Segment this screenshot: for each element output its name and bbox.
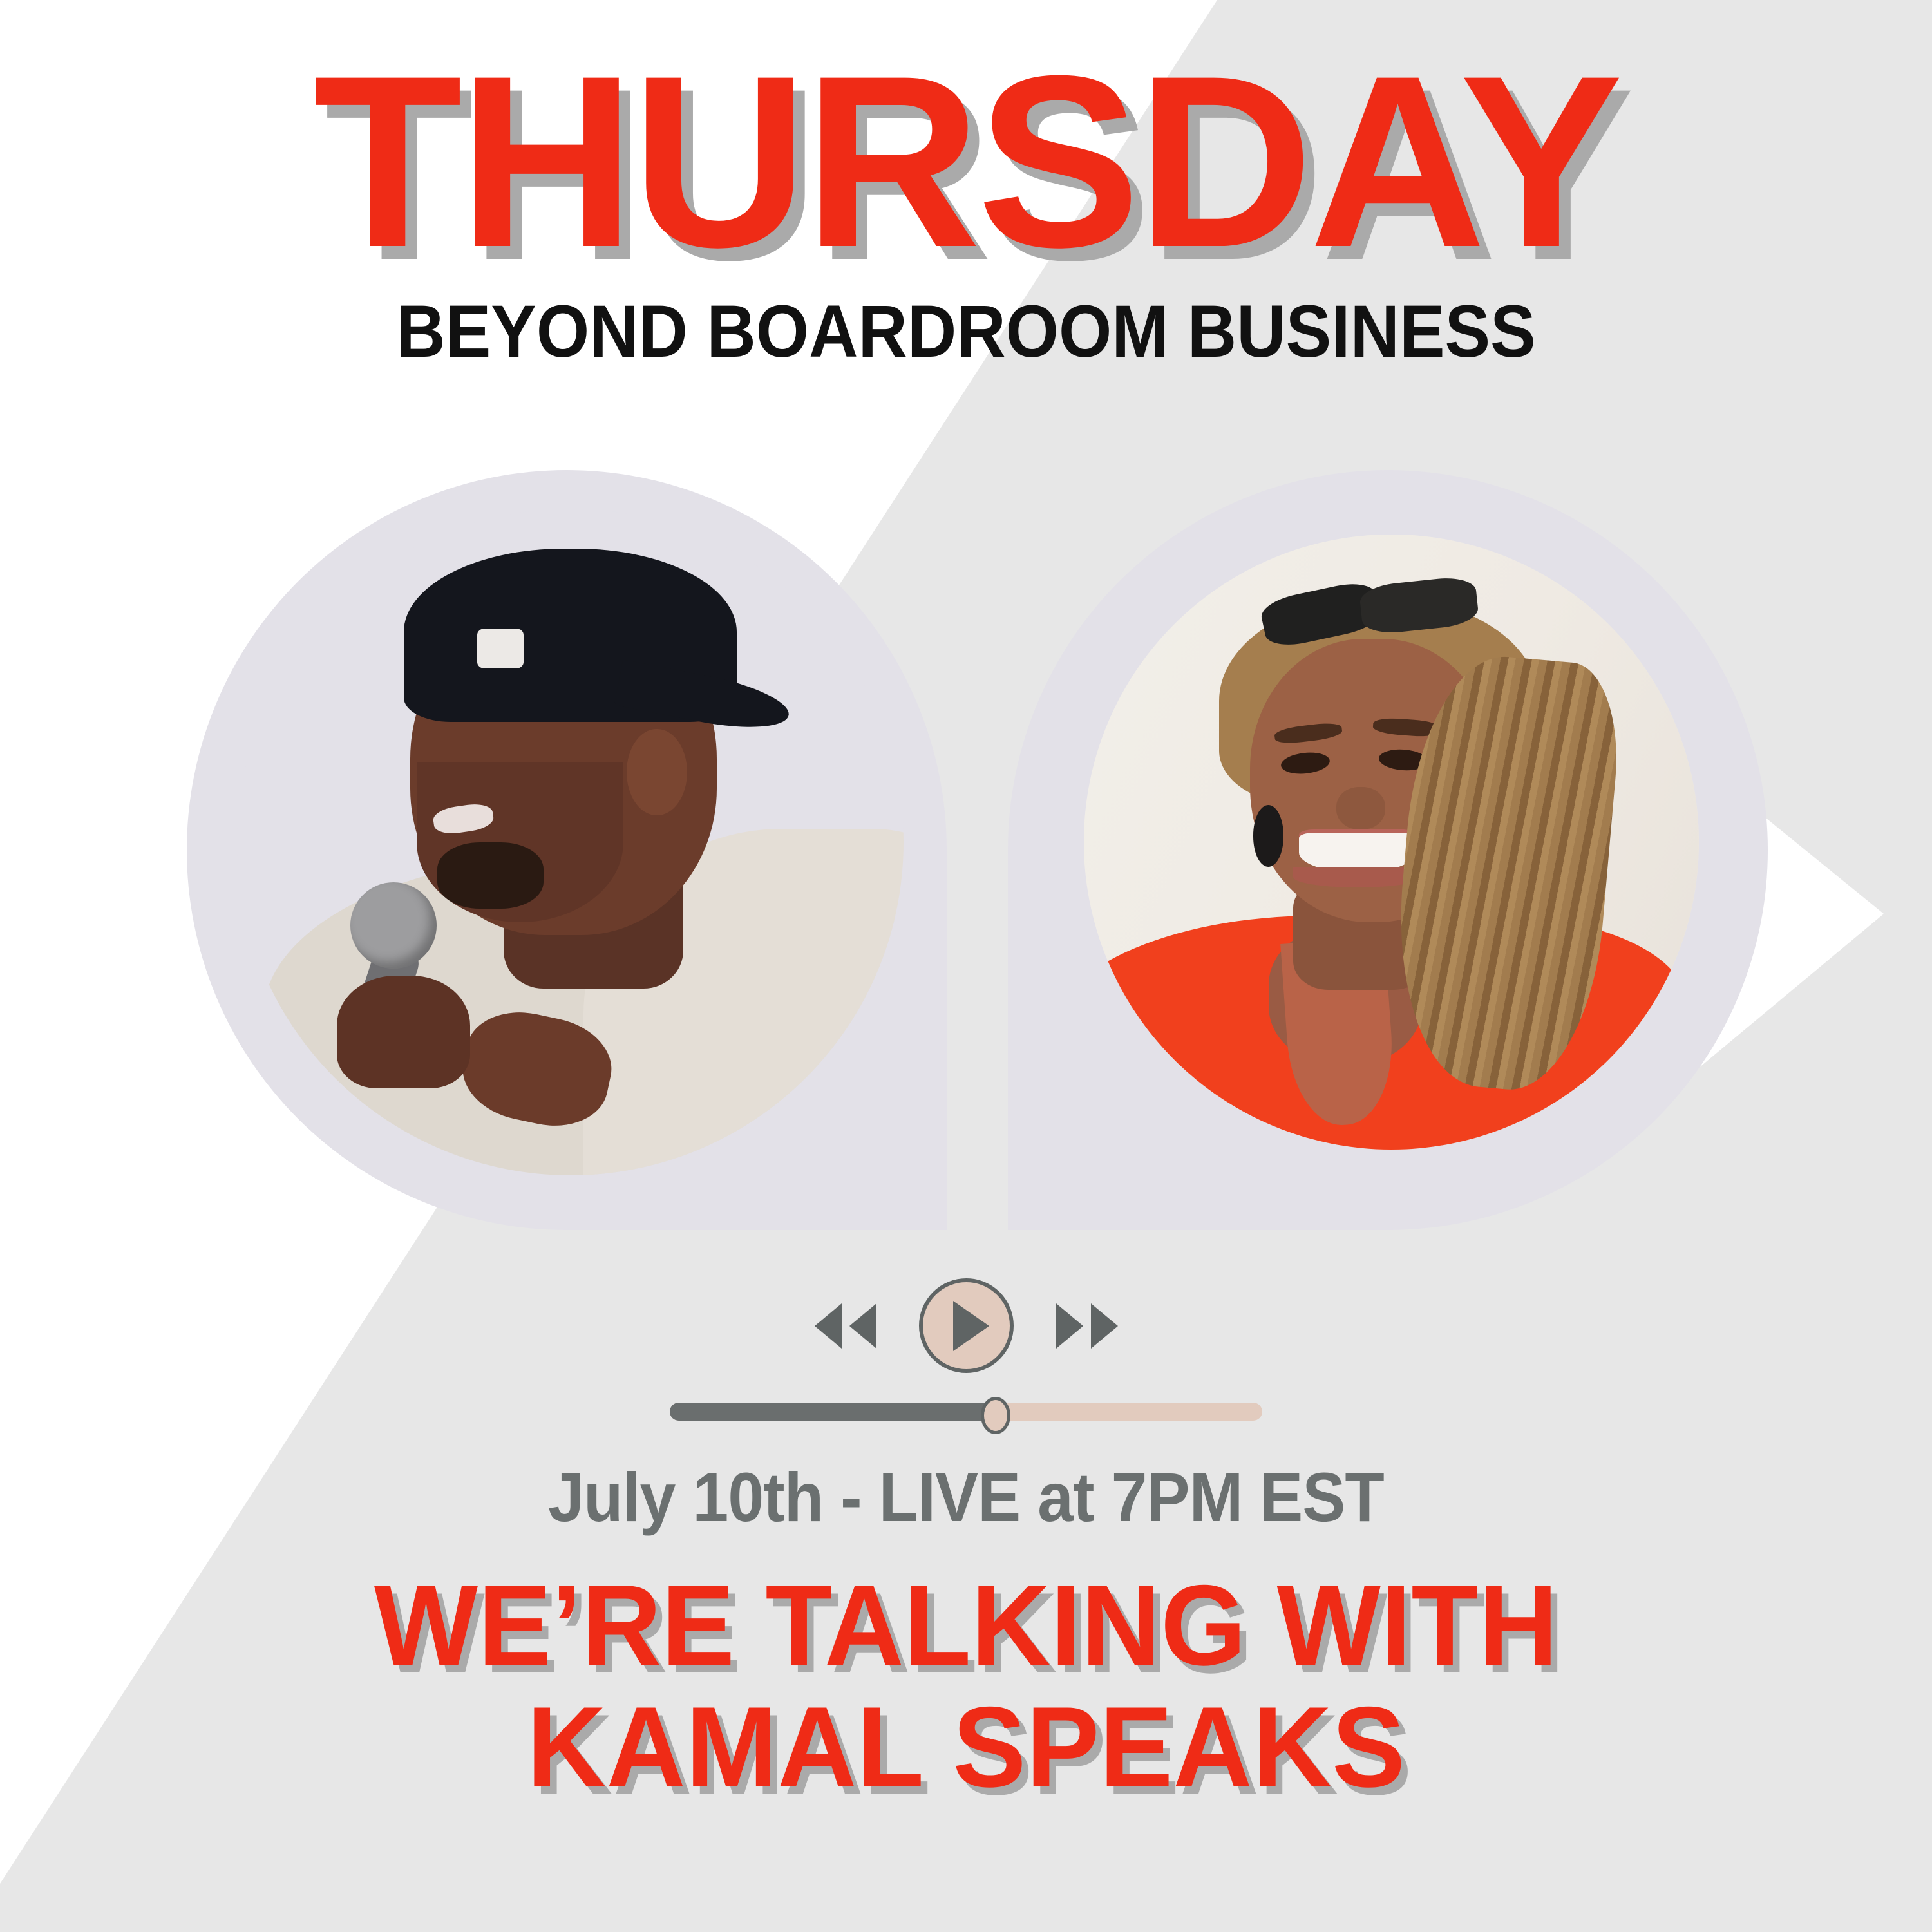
- footer-headline-line-1: WE’RE TALKING WITH: [39, 1565, 1893, 1687]
- speaker-photo-left: [237, 509, 904, 1175]
- media-controls: [0, 1278, 1932, 1373]
- promo-poster: THURSDAY BEYOND BOARDROOM BUSINESS: [0, 0, 1932, 1932]
- schedule-date-text: July 10th - LIVE at 7PM EST: [68, 1457, 1864, 1537]
- play-icon: [953, 1301, 989, 1351]
- portrait-illustration-left: [237, 509, 904, 1175]
- page-title: THURSDAY: [0, 45, 1932, 278]
- footer-headline-line-2: KAMAL SPEAKS: [39, 1687, 1893, 1808]
- portrait-illustration-right: [1084, 535, 1699, 1150]
- fast-forward-icon[interactable]: [1051, 1301, 1123, 1351]
- rewind-icon[interactable]: [810, 1301, 882, 1351]
- progress-bar[interactable]: [670, 1401, 1262, 1423]
- speech-bubble-avatar-right: [1008, 470, 1768, 1230]
- speaker-photo-right: [1084, 535, 1699, 1150]
- page-subtitle: BEYOND BOARDROOM BUSINESS: [77, 278, 1855, 374]
- headline-zone: THURSDAY BEYOND BOARDROOM BUSINESS: [0, 45, 1932, 374]
- progress-fill: [670, 1403, 996, 1421]
- play-button[interactable]: [919, 1278, 1014, 1373]
- speech-bubble-avatar-left: [187, 470, 947, 1230]
- footer-headline: WE’RE TALKING WITH KAMAL SPEAKS: [0, 1565, 1932, 1808]
- speaker-bubbles: [0, 470, 1932, 1262]
- progress-thumb[interactable]: [981, 1397, 1010, 1434]
